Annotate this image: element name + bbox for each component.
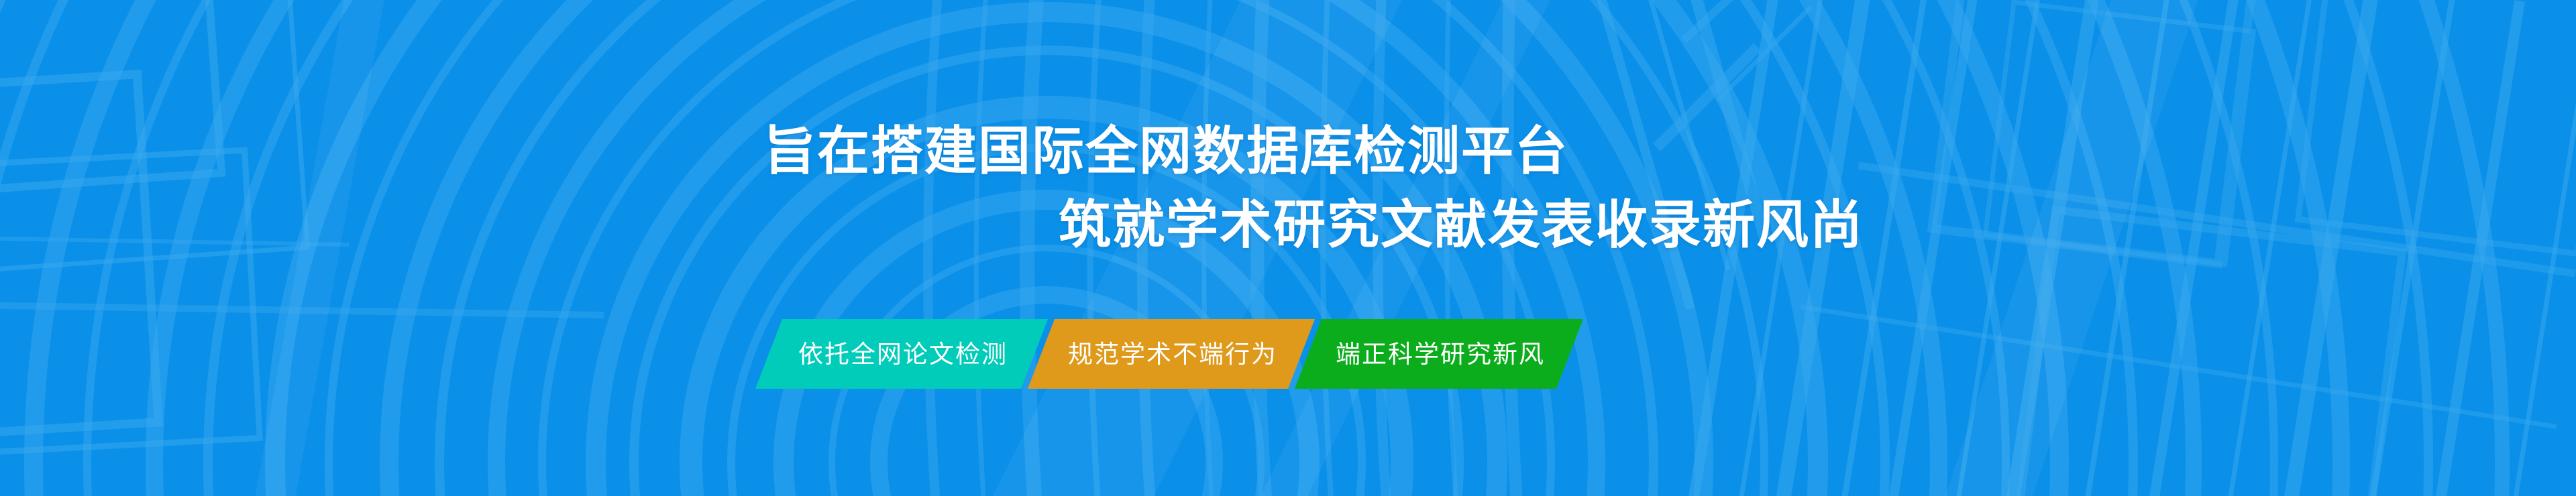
feature-badge-2-label: 规范学术不端行为 <box>1045 342 1300 367</box>
feature-badge-3[interactable]: 端正科学研究新风 <box>1295 319 1583 389</box>
headline-block: 旨在搭建国际全网数据库检测平台 筑就学术研究文献发表收录新风尚 <box>0 125 2576 251</box>
feature-badge-1-label: 依托全网论文检测 <box>775 342 1030 367</box>
feature-badge-1[interactable]: 依托全网论文检测 <box>755 319 1048 389</box>
feature-badge-2[interactable]: 规范学术不端行为 <box>1028 319 1315 389</box>
headline-line-2: 筑就学术研究文献发表收录新风尚 <box>1059 198 2576 251</box>
feature-badge-3-label: 端正科学研究新风 <box>1313 342 1568 367</box>
headline-line-1: 旨在搭建国际全网数据库检测平台 <box>763 125 2576 177</box>
feature-badge-strip: 依托全网论文检测 规范学术不端行为 端正科学研究新风 <box>755 319 1563 389</box>
hero-banner: 旨在搭建国际全网数据库检测平台 筑就学术研究文献发表收录新风尚 依托全网论文检测… <box>0 0 2576 496</box>
